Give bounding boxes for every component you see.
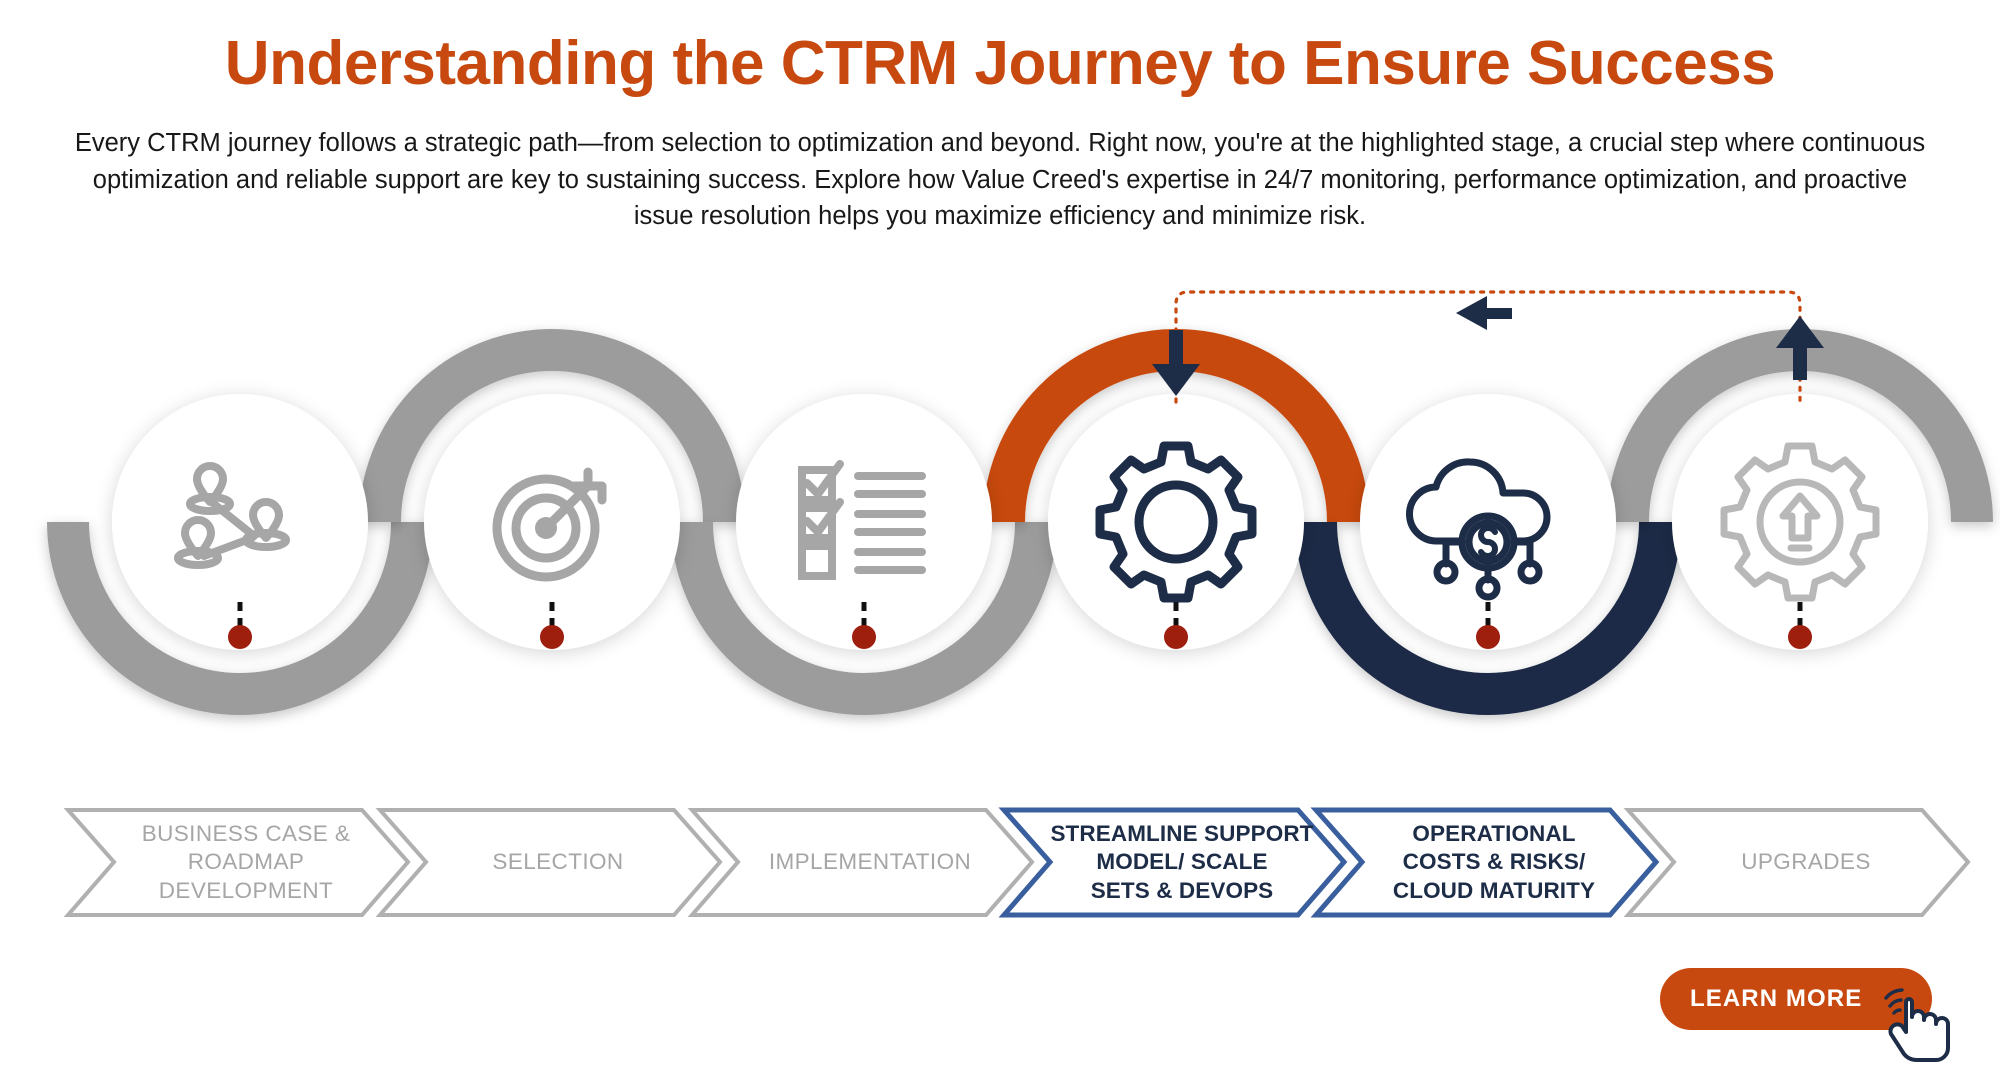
cta-area: LEARN MORE bbox=[1660, 968, 1960, 1038]
chevron-stage-2[interactable] bbox=[380, 810, 720, 915]
chevron-track bbox=[0, 805, 2000, 920]
chevron-stage-6[interactable] bbox=[1628, 810, 1968, 915]
stage-circle-4[interactable] bbox=[1048, 394, 1304, 650]
chevron-stage-4[interactable] bbox=[1004, 810, 1344, 915]
stage-circle-6[interactable] bbox=[1672, 394, 1928, 650]
chevron-stage-3[interactable] bbox=[692, 810, 1032, 915]
stage-circle-3[interactable] bbox=[736, 394, 992, 650]
chevron-stage-1[interactable] bbox=[68, 810, 408, 915]
page-title: Understanding the CTRM Journey to Ensure… bbox=[0, 0, 2000, 99]
chevron-stage-5[interactable] bbox=[1316, 810, 1656, 915]
learn-more-button[interactable]: LEARN MORE bbox=[1660, 968, 1932, 1030]
intro-paragraph: Every CTRM journey follows a strategic p… bbox=[70, 125, 1930, 234]
learn-more-label: LEARN MORE bbox=[1690, 985, 1862, 1013]
header-block: Understanding the CTRM Journey to Ensure… bbox=[0, 0, 2000, 234]
chevron-strip: BUSINESS CASE & ROADMAP DEVELOPMENT SELE… bbox=[0, 805, 2000, 920]
arrow-left-icon bbox=[1456, 296, 1512, 330]
